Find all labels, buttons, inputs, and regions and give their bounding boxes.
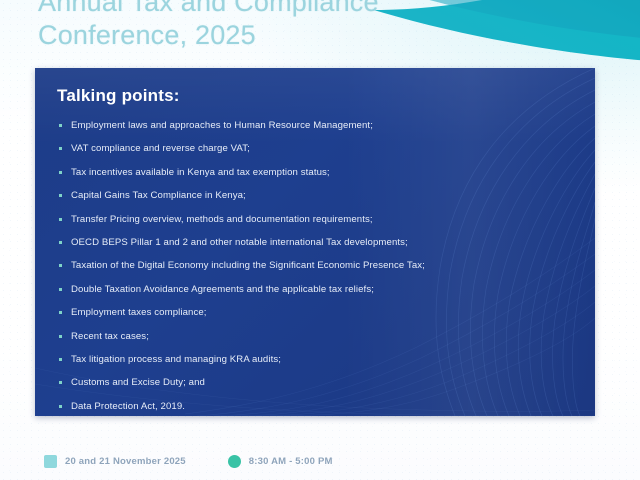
slide-canvas: Annual Tax and Compliance Conference, 20… [0, 0, 640, 480]
list-item: Recent tax cases; [57, 331, 573, 343]
event-date-item: 20 and 21 November 2025 [44, 455, 186, 468]
list-item: VAT compliance and reverse charge VAT; [57, 143, 573, 155]
clock-icon [228, 455, 241, 468]
event-time-label: 8:30 AM - 5:00 PM [249, 456, 333, 467]
talking-points-list: Employment laws and approaches to Human … [57, 120, 573, 413]
event-date-label: 20 and 21 November 2025 [65, 456, 186, 467]
list-item: Double Taxation Avoidance Agreements and… [57, 284, 573, 296]
slide-title: Annual Tax and Compliance Conference, 20… [38, 0, 508, 52]
list-item: Customs and Excise Duty; and [57, 377, 573, 389]
list-item: Employment taxes compliance; [57, 307, 573, 319]
list-item: Transfer Pricing overview, methods and d… [57, 214, 573, 226]
panel-heading: Talking points: [57, 86, 573, 106]
event-time-item: 8:30 AM - 5:00 PM [228, 455, 333, 468]
list-item: Employment laws and approaches to Human … [57, 120, 573, 132]
list-item: Data Protection Act, 2019. [57, 401, 573, 413]
talking-points-panel: Talking points: Employment laws and appr… [35, 68, 595, 416]
list-item: Tax litigation process and managing KRA … [57, 354, 573, 366]
list-item: Taxation of the Digital Economy includin… [57, 260, 573, 272]
list-item: Capital Gains Tax Compliance in Kenya; [57, 190, 573, 202]
event-meta-bar: 20 and 21 November 2025 8:30 AM - 5:00 P… [44, 455, 333, 468]
calendar-icon [44, 455, 57, 468]
list-item: Tax incentives available in Kenya and ta… [57, 167, 573, 179]
list-item: OECD BEPS Pillar 1 and 2 and other notab… [57, 237, 573, 249]
